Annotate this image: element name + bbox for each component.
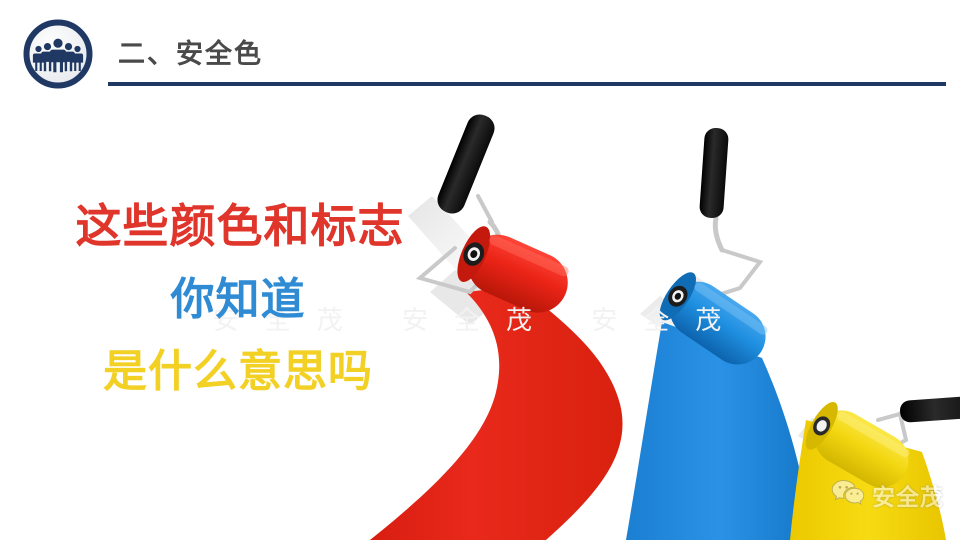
headline-line-1: 这些颜色和标志 <box>0 196 470 257</box>
wechat-icon <box>831 479 865 512</box>
slide-canvas: 安全茂 安全茂 安全茂 <box>0 0 960 540</box>
page-title: 二、安全色 <box>118 32 263 71</box>
headline-block: 这些颜色和标志 你知道 是什么意思吗 <box>0 196 470 401</box>
headline-line-3: 是什么意思吗 <box>0 343 470 401</box>
wechat-watermark-label: 安全茂 <box>872 478 944 512</box>
header-divider <box>108 82 946 86</box>
blue-roller-handle <box>699 127 729 218</box>
people-group-circle-icon <box>22 18 94 90</box>
slide-header: 二、安全色 <box>0 0 960 100</box>
blue-paint-stroke <box>626 322 812 540</box>
headline-line-2: 你知道 <box>0 271 470 329</box>
wechat-watermark: 安全茂 <box>831 478 944 512</box>
blue-paint-roller <box>653 127 776 375</box>
yellow-roller-handle <box>899 395 960 423</box>
